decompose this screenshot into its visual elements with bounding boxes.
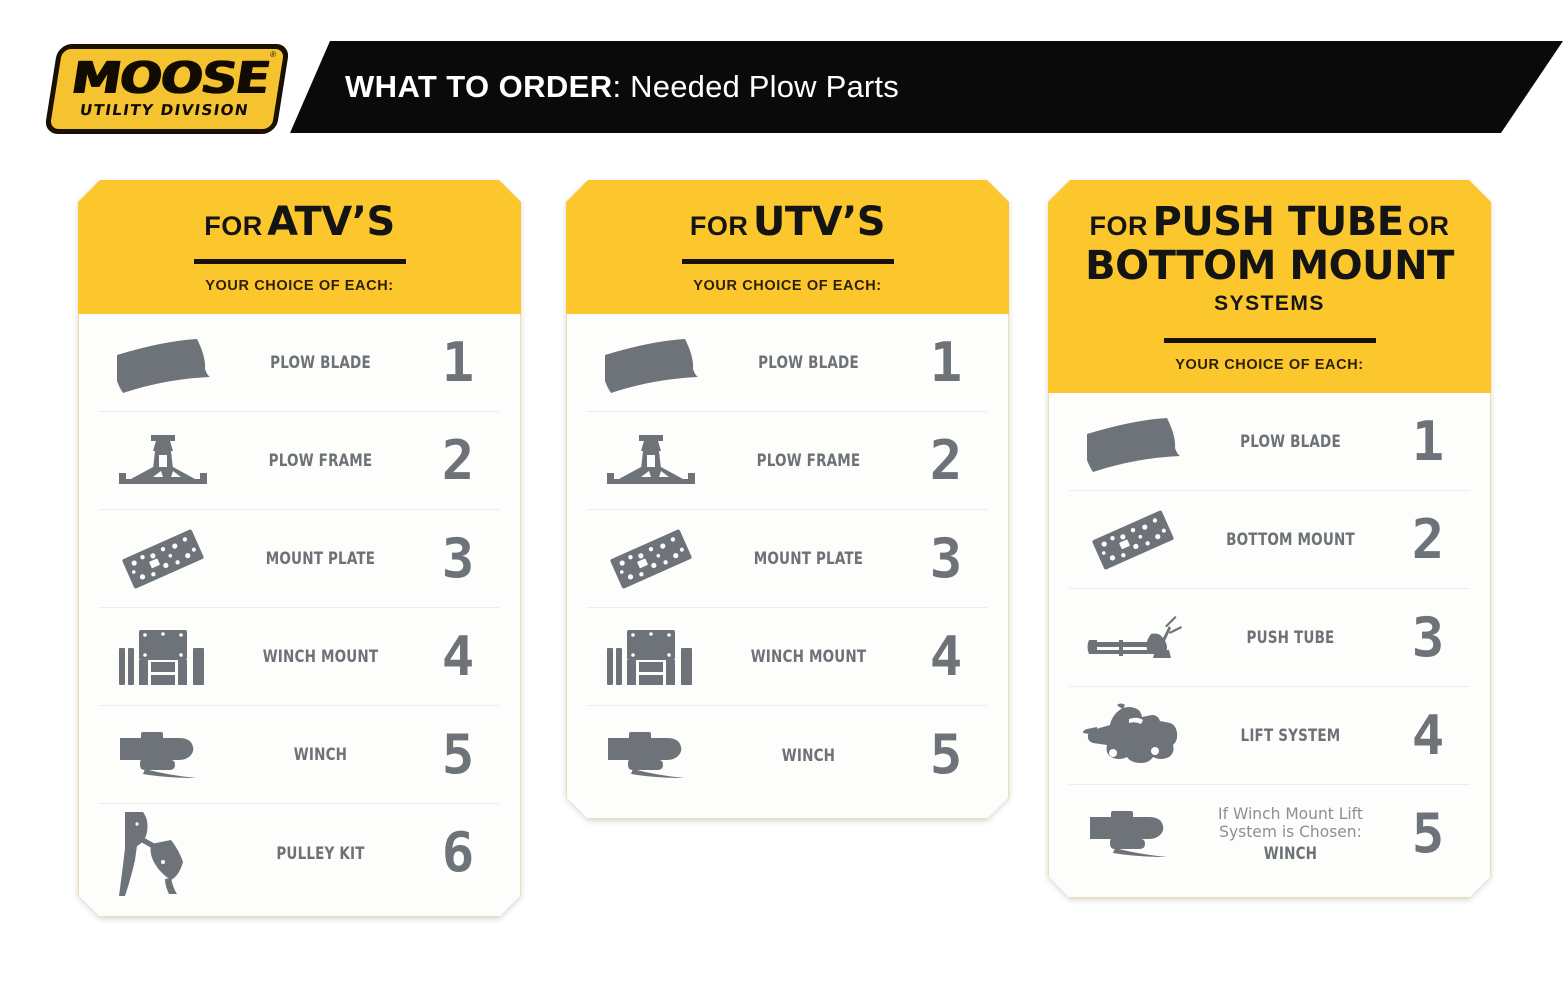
list-item-number: 4 — [902, 630, 988, 684]
winch-mount-icon — [587, 624, 715, 690]
card-utv: FOR UTV’S YOUR CHOICE OF EACH: PLOW BLAD… — [566, 180, 1009, 819]
list-item-label: WINCH MOUNT — [732, 647, 885, 666]
cards-container: FOR ATV’S YOUR CHOICE OF EACH: PLOW BLAD… — [0, 150, 1563, 1000]
list-item[interactable]: MOUNT PLATE 3 — [587, 510, 988, 608]
list-item[interactable]: PLOW FRAME 2 — [587, 412, 988, 510]
card-utv-body: PLOW BLADE 1 PLOW FRAME — [566, 314, 1009, 819]
list-item-label: MOUNT PLATE — [244, 549, 397, 568]
list-item[interactable]: WINCH 5 — [99, 706, 500, 804]
list-item-label: PLOW BLADE — [244, 353, 397, 372]
list-item-label: PLOW BLADE — [732, 353, 885, 372]
logo-wordmark: MOOSE — [68, 58, 271, 100]
mount-plate-icon — [99, 525, 227, 593]
moose-utility-division-logo: MOOSE UTILITY DIVISION ® — [45, 36, 290, 141]
list-item-number: 3 — [1384, 611, 1470, 665]
card-push-tube-title-line3: SYSTEMS — [1068, 292, 1471, 316]
list-item-number: 2 — [414, 434, 500, 488]
card-push-tube-title-rule — [1164, 338, 1376, 343]
list-item-number: 1 — [1384, 415, 1470, 469]
plow-frame-icon — [587, 429, 715, 493]
list-item[interactable]: MOUNT PLATE 3 — [99, 510, 500, 608]
list-item-label: BOTTOM MOUNT — [1214, 530, 1367, 549]
page-title: WHAT TO ORDER: Needed Plow Parts — [345, 69, 899, 105]
logo-inner: MOOSE UTILITY DIVISION — [37, 36, 299, 141]
list-item-number: 1 — [414, 336, 500, 390]
list-item-number: 5 — [902, 728, 988, 782]
atv-icon — [1069, 701, 1197, 771]
card-atv-title: FOR ATV’S — [98, 202, 501, 242]
card-push-tube-title-suffix: OR — [1408, 211, 1450, 241]
bottom-mount-icon — [1069, 506, 1197, 574]
plow-frame-icon — [99, 429, 227, 493]
card-push-tube-title-prefix: FOR — [1090, 211, 1149, 241]
card-atv-choice-label: YOUR CHOICE OF EACH: — [98, 278, 501, 294]
card-atv-header: FOR ATV’S YOUR CHOICE OF EACH: — [78, 180, 521, 314]
card-push-tube-title-line2-wrap: BOTTOM MOUNT — [1068, 246, 1471, 286]
list-item[interactable]: PUSH TUBE 3 — [1069, 589, 1470, 687]
winch-icon — [99, 726, 227, 784]
logo-subtitle: UTILITY DIVISION — [78, 101, 250, 119]
card-utv-title-main: UTV’S — [753, 199, 885, 245]
card-atv-title-main: ATV’S — [267, 199, 395, 245]
card-push-tube-title-line2: BOTTOM MOUNT — [1085, 243, 1454, 289]
card-push-tube-title: FOR PUSH TUBE OR — [1068, 202, 1471, 242]
winch-icon — [1069, 805, 1197, 863]
list-item-label: LIFT SYSTEM — [1214, 726, 1367, 745]
list-item-number: 5 — [1384, 807, 1470, 861]
list-item-number: 2 — [1384, 513, 1470, 567]
list-item-label: WINCH — [732, 746, 885, 765]
page-title-strong: WHAT TO ORDER — [345, 69, 613, 104]
list-item-number: 6 — [414, 826, 500, 880]
card-atv-title-prefix: FOR — [204, 211, 263, 241]
list-item[interactable]: If Winch Mount Lift System is Chosen: WI… — [1069, 785, 1470, 883]
list-item-number: 5 — [414, 728, 500, 782]
list-item-number: 1 — [902, 336, 988, 390]
card-utv-title-rule — [682, 259, 894, 264]
list-item-label: MOUNT PLATE — [732, 549, 885, 568]
card-utv-title: FOR UTV’S — [586, 202, 989, 242]
list-item-number: 3 — [414, 532, 500, 586]
mount-plate-icon — [587, 525, 715, 593]
plow-blade-icon — [1069, 410, 1197, 474]
list-item-label: PUSH TUBE — [1214, 628, 1367, 647]
list-item[interactable]: BOTTOM MOUNT 2 — [1069, 491, 1470, 589]
infographic-page: MOOSE UTILITY DIVISION ® WHAT TO ORDER: … — [0, 0, 1563, 1000]
list-item[interactable]: LIFT SYSTEM 4 — [1069, 687, 1470, 785]
list-item-label: WINCH MOUNT — [244, 647, 397, 666]
list-item[interactable]: PLOW BLADE 1 — [587, 314, 988, 412]
list-item-label: PLOW FRAME — [732, 451, 885, 470]
card-atv: FOR ATV’S YOUR CHOICE OF EACH: PLOW BLAD… — [78, 180, 521, 917]
list-item-label: WINCH — [244, 745, 397, 764]
plow-blade-icon — [99, 331, 227, 395]
card-utv-title-prefix: FOR — [690, 211, 749, 241]
winch-icon — [587, 726, 715, 784]
list-item[interactable]: WINCH MOUNT 4 — [587, 608, 988, 706]
page-header: MOOSE UTILITY DIVISION ® WHAT TO ORDER: … — [0, 0, 1563, 150]
card-push-tube-title-main: PUSH TUBE — [1152, 199, 1403, 245]
list-item[interactable]: PLOW FRAME 2 — [99, 412, 500, 510]
card-push-tube-header: FOR PUSH TUBE OR BOTTOM MOUNT SYSTEMS YO… — [1048, 180, 1491, 393]
card-push-tube-bottom-mount: FOR PUSH TUBE OR BOTTOM MOUNT SYSTEMS YO… — [1048, 180, 1491, 898]
list-item-note-strong: WINCH — [1214, 844, 1367, 863]
card-push-tube-body: PLOW BLADE 1 — [1048, 393, 1491, 898]
card-utv-choice-label: YOUR CHOICE OF EACH: — [586, 278, 989, 294]
page-title-rest: : Needed Plow Parts — [613, 69, 899, 104]
card-utv-header: FOR UTV’S YOUR CHOICE OF EACH: — [566, 180, 1009, 314]
card-atv-body: PLOW BLADE 1 PLOW FRAME — [78, 314, 521, 917]
list-item-number: 2 — [902, 434, 988, 488]
list-item[interactable]: PLOW BLADE 1 — [1069, 393, 1470, 491]
plow-blade-icon — [587, 331, 715, 395]
push-tube-icon — [1069, 610, 1197, 666]
list-item-label: If Winch Mount Lift System is Chosen: WI… — [1214, 805, 1367, 864]
card-atv-title-rule — [194, 259, 406, 264]
list-item[interactable]: PULLEY KIT 6 — [99, 804, 500, 902]
list-item-label: PULLEY KIT — [244, 844, 397, 863]
list-item[interactable]: WINCH MOUNT 4 — [99, 608, 500, 706]
list-item[interactable]: PLOW BLADE 1 — [99, 314, 500, 412]
header-banner: WHAT TO ORDER: Needed Plow Parts — [290, 41, 1563, 133]
list-item-number: 4 — [414, 630, 500, 684]
winch-mount-icon — [99, 624, 227, 690]
list-item-number: 3 — [902, 532, 988, 586]
pulley-kit-icon — [99, 806, 227, 900]
list-item-note: If Winch Mount Lift System is Chosen: — [1200, 805, 1381, 842]
list-item-number: 4 — [1384, 709, 1470, 763]
list-item[interactable]: WINCH 5 — [587, 706, 988, 804]
list-item-label: PLOW BLADE — [1214, 432, 1367, 451]
card-push-tube-choice-label: YOUR CHOICE OF EACH: — [1068, 357, 1471, 373]
list-item-label: PLOW FRAME — [244, 451, 397, 470]
